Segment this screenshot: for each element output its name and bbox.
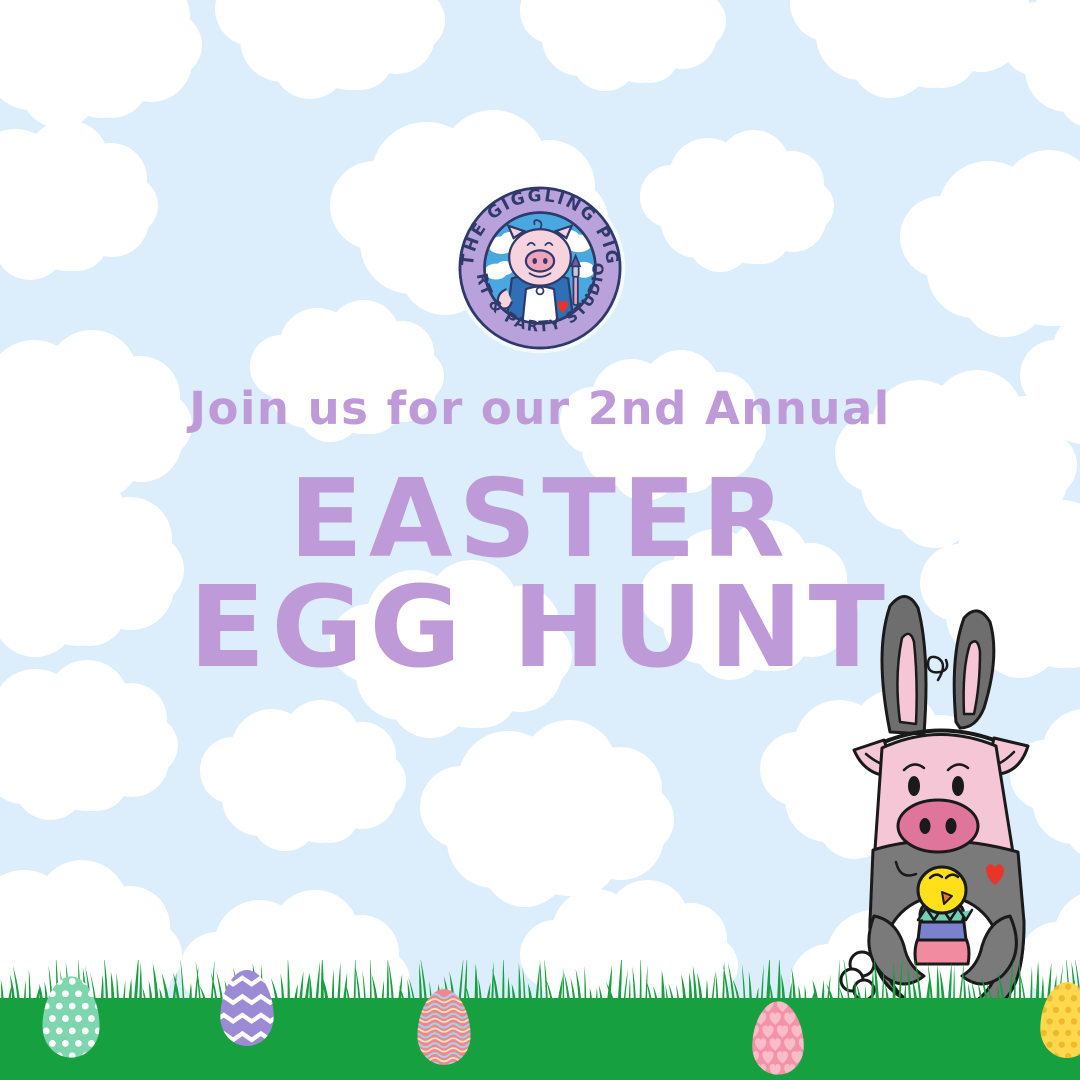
egg-svg — [415, 988, 473, 1066]
bunny-ear-left — [882, 596, 926, 734]
egg-svg — [218, 968, 276, 1048]
egg-yellow-polka — [1038, 980, 1080, 1060]
egg-svg — [1038, 980, 1080, 1060]
brand-logo[interactable]: THE GIGGLING PIG ART & PARTY STUDIO — [452, 180, 628, 356]
egg-pink-wave — [415, 988, 473, 1066]
event-subtitle: Join us for our 2nd Annual — [0, 386, 1080, 431]
egg-svg — [40, 975, 102, 1059]
grass-svg — [0, 960, 1080, 1080]
logo-svg: THE GIGGLING PIG ART & PARTY STUDIO — [452, 180, 628, 356]
bunny-ear-right — [954, 611, 994, 728]
egg-purple-chevron — [218, 968, 276, 1048]
egg-green-polka — [40, 975, 102, 1059]
chick-in-egg — [915, 867, 972, 964]
easter-egg-hunt-poster: THE GIGGLING PIG ART & PARTY STUDIO Join… — [0, 0, 1080, 1080]
grass-foreground — [0, 960, 1080, 1080]
egg-pink-hearts — [750, 1000, 806, 1076]
event-title-line-1: EASTER — [0, 466, 1080, 574]
egg-svg — [750, 1000, 806, 1076]
